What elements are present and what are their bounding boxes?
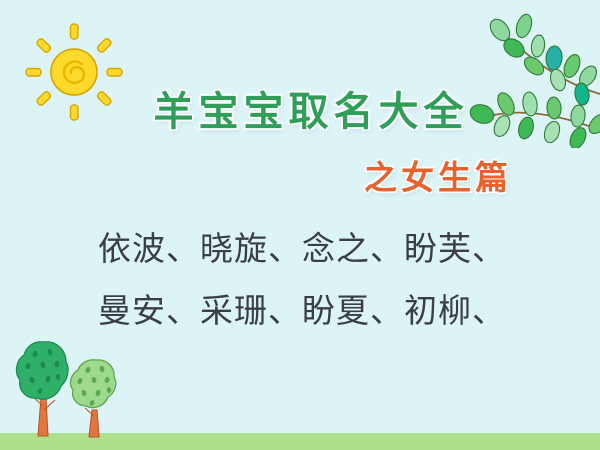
name-list: 依波、晓旋、念之、盼芙、 曼安、采珊、盼夏、初柳、 [0,218,600,342]
name-list-line: 曼安、采珊、盼夏、初柳、 [4,280,600,342]
poster-canvas: 羊宝宝取名大全 之女生篇 依波、晓旋、念之、盼芙、 曼安、采珊、盼夏、初柳、 [0,0,600,450]
page-subtitle: 之女生篇 [0,158,600,198]
name-list-line: 依波、晓旋、念之、盼芙、 [4,218,600,280]
page-title: 羊宝宝取名大全 [0,88,600,136]
text-block: 羊宝宝取名大全 之女生篇 依波、晓旋、念之、盼芙、 曼安、采珊、盼夏、初柳、 [0,0,600,450]
